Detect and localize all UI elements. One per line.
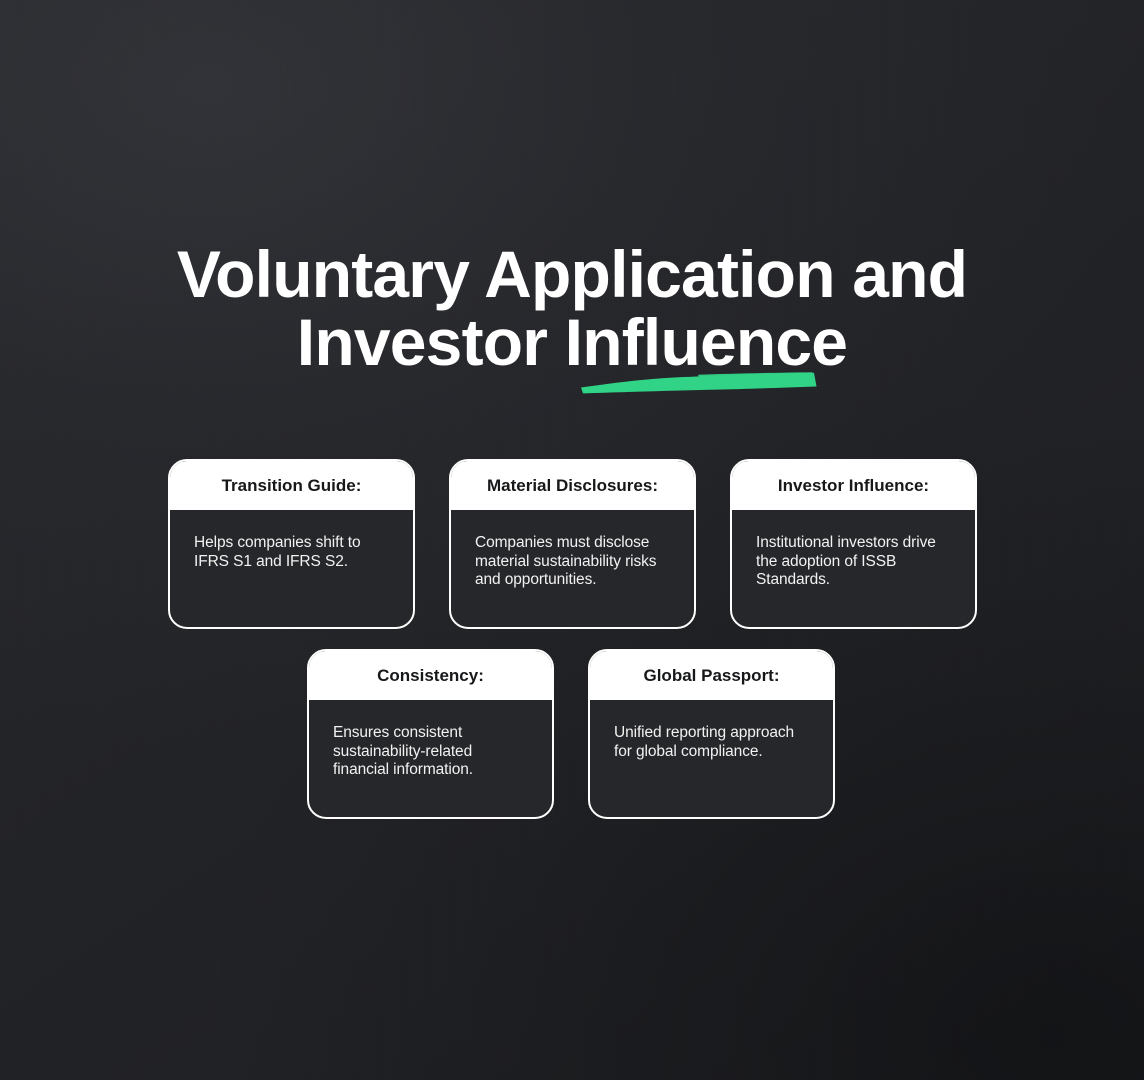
card-body: Unified reporting approach for global co… [590,700,833,817]
card-heading: Consistency: [377,666,484,686]
page-title-line-1: Voluntary Application and [0,240,1144,308]
card-material-disclosures[interactable]: Material Disclosures: Companies must dis… [449,459,696,629]
card-heading: Transition Guide: [222,476,362,496]
page-title: Voluntary Application and Investor Influ… [0,240,1144,376]
card-body: Companies must disclose material sustain… [451,510,694,627]
card-global-passport[interactable]: Global Passport: Unified reporting appro… [588,649,835,819]
slide-canvas: Voluntary Application and Investor Influ… [0,0,1144,1080]
card-row-top: Transition Guide: Helps companies shift … [168,459,977,629]
card-body-text: Institutional investors drive the adopti… [756,534,953,590]
card-header: Material Disclosures: [451,461,694,510]
card-body: Institutional investors drive the adopti… [732,510,975,627]
card-body: Helps companies shift to IFRS S1 and IFR… [170,510,413,627]
card-header: Transition Guide: [170,461,413,510]
card-heading: Global Passport: [643,666,779,686]
card-header: Investor Influence: [732,461,975,510]
card-body: Ensures consistent sustainability-relate… [309,700,552,817]
card-heading: Material Disclosures: [487,476,658,496]
card-header: Consistency: [309,651,552,700]
card-heading: Investor Influence: [778,476,929,496]
card-header: Global Passport: [590,651,833,700]
card-body-text: Unified reporting approach for global co… [614,724,811,761]
card-consistency[interactable]: Consistency: Ensures consistent sustaina… [307,649,554,819]
card-body-text: Companies must disclose material sustain… [475,534,672,590]
card-transition-guide[interactable]: Transition Guide: Helps companies shift … [168,459,415,629]
card-row-bottom: Consistency: Ensures consistent sustaina… [307,649,835,819]
card-body-text: Ensures consistent sustainability-relate… [333,724,530,780]
card-investor-influence[interactable]: Investor Influence: Institutional invest… [730,459,977,629]
card-body-text: Helps companies shift to IFRS S1 and IFR… [194,534,391,571]
page-title-line-2: Investor Influence [0,308,1144,376]
